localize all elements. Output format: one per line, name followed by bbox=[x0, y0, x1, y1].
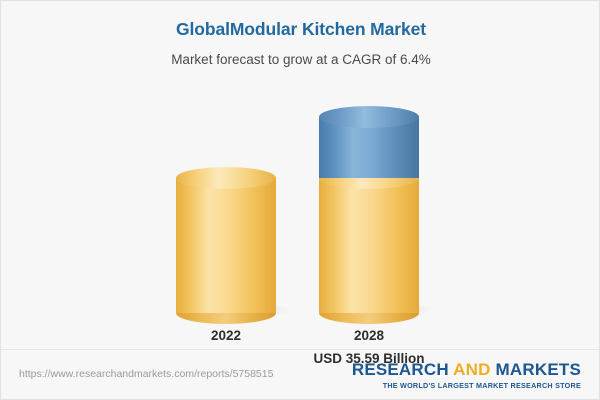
bar-segment-growth-2028[interactable] bbox=[319, 117, 419, 178]
brand-tagline: THE WORLD'S LARGEST MARKET RESEARCH STOR… bbox=[352, 381, 581, 390]
category-label-2022: 2022 bbox=[156, 328, 296, 343]
research-and-markets-logo[interactable]: RESEARCH AND MARKETS THE WORLD'S LARGEST… bbox=[352, 361, 581, 390]
brand-word-research: RESEARCH bbox=[352, 360, 449, 379]
cylinder-body bbox=[319, 178, 419, 313]
market-forecast-chart-card: GlobalModular Kitchen Market Market fore… bbox=[0, 0, 600, 400]
bar-segment-base-2022[interactable] bbox=[176, 178, 276, 313]
brand-word-markets: MARKETS bbox=[496, 360, 581, 379]
chart-subtitle: Market forecast to grow at a CAGR of 6.4… bbox=[1, 52, 600, 67]
brand-wordmark: RESEARCH AND MARKETS bbox=[352, 361, 581, 378]
footer-divider bbox=[1, 349, 600, 350]
brand-word-and: AND bbox=[453, 360, 490, 379]
plot-area: USD 24.55 Billion 2022 USD 35.59 Billion bbox=[1, 81, 600, 343]
cylinder-body bbox=[176, 178, 276, 313]
chart-title: GlobalModular Kitchen Market bbox=[1, 19, 600, 40]
cylinder-top-ellipse bbox=[176, 167, 276, 189]
cylinder-top-ellipse bbox=[319, 106, 419, 128]
category-label-2028: 2028 bbox=[299, 328, 439, 343]
report-url-link[interactable]: https://www.researchandmarkets.com/repor… bbox=[19, 368, 273, 380]
bar-segment-base-2028[interactable] bbox=[319, 178, 419, 313]
